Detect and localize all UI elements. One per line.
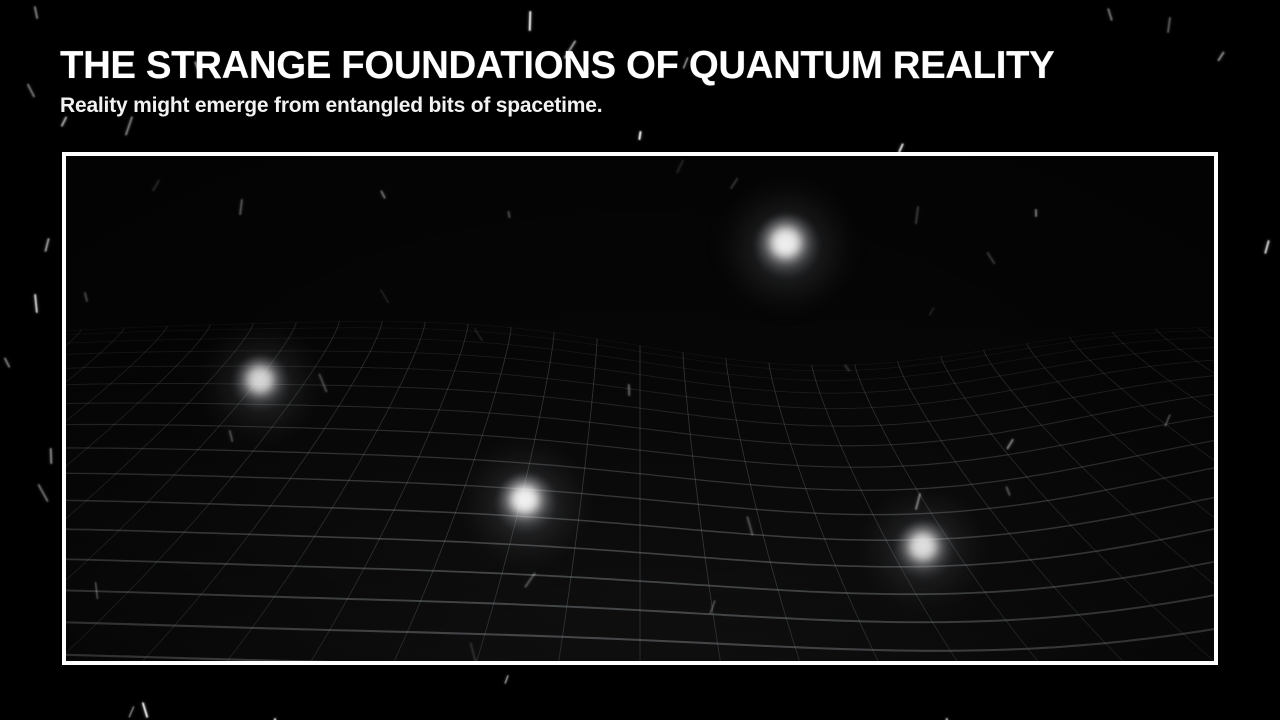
- particle-streak: [44, 238, 50, 252]
- particle-streak: [1264, 240, 1270, 254]
- particle-streak: [529, 11, 532, 31]
- particle-streak: [50, 448, 53, 464]
- particle-streak: [142, 702, 149, 718]
- particle-streak: [504, 675, 509, 684]
- particle-streak: [638, 131, 641, 140]
- particle-streak: [125, 116, 133, 135]
- headline-block: THE STRANGE FOUNDATIONS OF QUANTUM REALI…: [60, 44, 1069, 118]
- particle-streak: [34, 294, 38, 314]
- slide-canvas: THE STRANGE FOUNDATIONS OF QUANTUM REALI…: [0, 0, 1280, 720]
- page-title: THE STRANGE FOUNDATIONS OF QUANTUM REALI…: [60, 44, 1054, 88]
- particle-streak: [1108, 8, 1114, 21]
- wireframe-mesh-graphic: [66, 156, 1214, 661]
- particle-streak: [37, 484, 48, 502]
- spacetime-mesh-illustration: [66, 156, 1214, 661]
- particle-streak: [1167, 17, 1171, 33]
- particle-streak: [27, 83, 36, 97]
- particle-streak: [1217, 51, 1225, 61]
- particle-streak: [34, 6, 39, 19]
- particle-streak: [129, 706, 135, 717]
- page-subtitle: Reality might emerge from entangled bits…: [60, 93, 1069, 118]
- media-frame: [62, 152, 1218, 665]
- particle-streak: [3, 357, 10, 368]
